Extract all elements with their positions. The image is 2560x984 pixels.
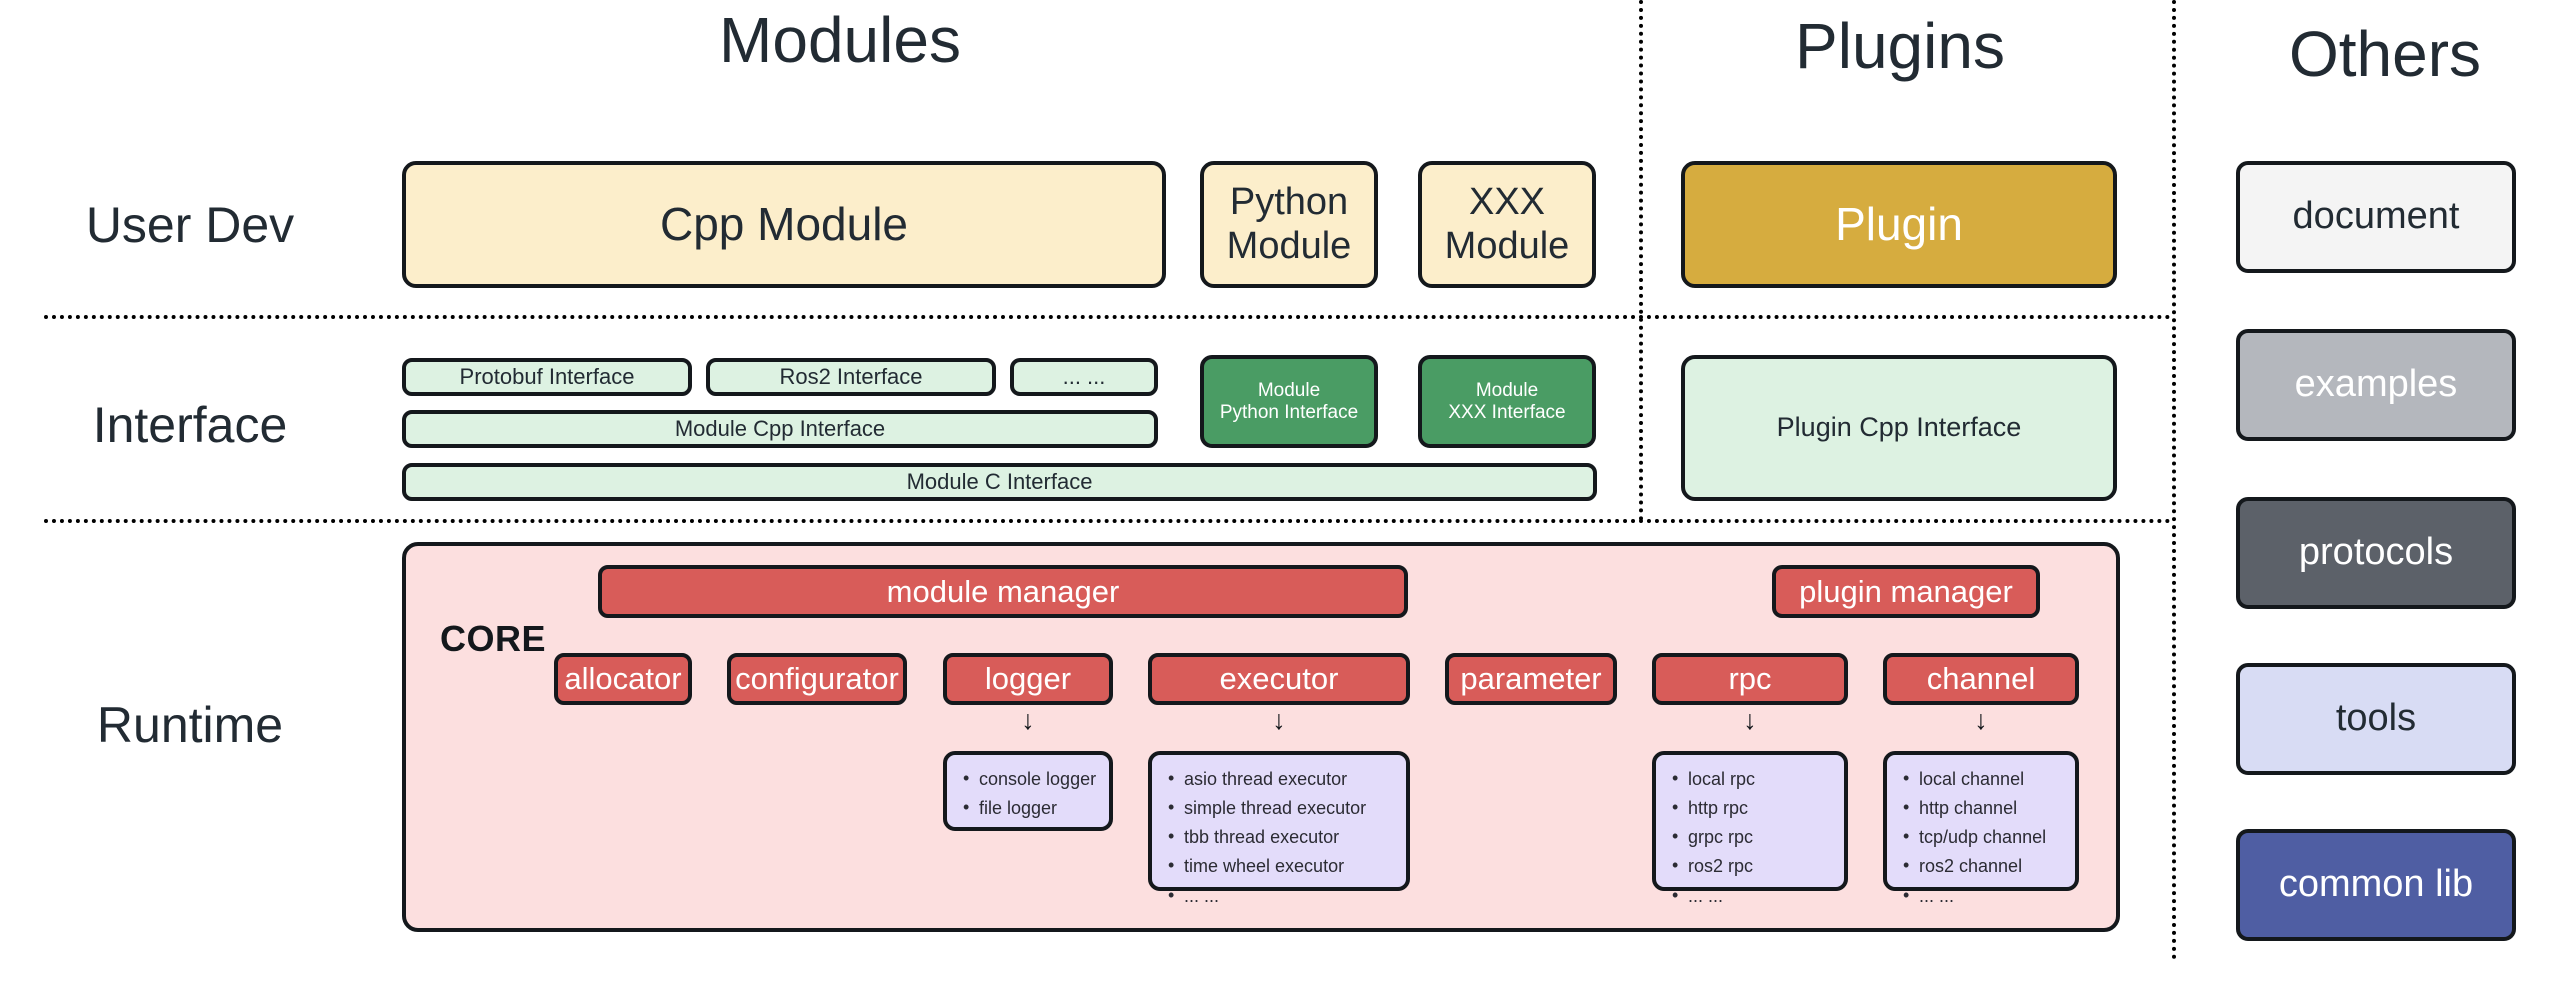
node-others-common-lib[interactable]: common lib — [2236, 829, 2516, 941]
list-item: local channel — [1919, 765, 2067, 794]
node-xxx-module-label-line1: XXX — [1469, 181, 1545, 225]
node-module-python-interface-line1: Module — [1258, 380, 1320, 402]
node-allocator[interactable]: allocator — [554, 653, 692, 705]
node-module-manager[interactable]: module manager — [598, 565, 1408, 618]
node-python-module-label-line2: Module — [1227, 225, 1352, 269]
list-item: tcp/udp channel — [1919, 823, 2067, 852]
node-module-c-interface[interactable]: Module C Interface — [402, 463, 1597, 501]
node-cpp-module[interactable]: Cpp Module — [402, 161, 1166, 288]
list-item: console logger — [979, 765, 1101, 794]
rpc-list: local rpc http rpc grpc rpc ros2 rpc ...… — [1666, 765, 1836, 911]
node-python-module-label-line1: Python — [1230, 181, 1348, 225]
list-item: grpc rpc — [1688, 823, 1836, 852]
node-others-protocols[interactable]: protocols — [2236, 497, 2516, 609]
column-header-modules: Modules — [600, 8, 1080, 72]
row-label-runtime: Runtime — [20, 700, 360, 750]
list-rpc-implementations: local rpc http rpc grpc rpc ros2 rpc ...… — [1652, 751, 1848, 891]
node-xxx-module-label-line2: Module — [1445, 225, 1570, 269]
divider-modules-plugins — [1639, 0, 1643, 521]
node-configurator[interactable]: configurator — [727, 653, 907, 705]
node-parameter[interactable]: parameter — [1445, 653, 1617, 705]
node-module-cpp-interface[interactable]: Module Cpp Interface — [402, 410, 1158, 448]
node-protobuf-interface[interactable]: Protobuf Interface — [402, 358, 692, 396]
executor-list: asio thread executor simple thread execu… — [1162, 765, 1398, 911]
list-item: ros2 rpc — [1688, 852, 1836, 881]
core-label: CORE — [440, 618, 546, 660]
list-item: local rpc — [1688, 765, 1836, 794]
list-item: ros2 channel — [1919, 852, 2067, 881]
list-item: asio thread executor — [1184, 765, 1398, 794]
arrow-executor-to-list: ↓ — [1148, 705, 1410, 736]
list-item: ... ... — [1688, 882, 1836, 911]
arrow-channel-to-list: ↓ — [1883, 705, 2079, 736]
node-plugin[interactable]: Plugin — [1681, 161, 2117, 288]
node-channel[interactable]: channel — [1883, 653, 2079, 705]
architecture-diagram: Modules Plugins Others User Dev Interfac… — [0, 0, 2560, 984]
node-others-examples[interactable]: examples — [2236, 329, 2516, 441]
column-header-others: Others — [2215, 22, 2555, 86]
list-item: time wheel executor — [1184, 852, 1398, 881]
node-plugin-cpp-interface[interactable]: Plugin Cpp Interface — [1681, 355, 2117, 501]
divider-plugins-others — [2172, 0, 2176, 960]
node-python-module[interactable]: Python Module — [1200, 161, 1378, 288]
channel-list: local channel http channel tcp/udp chann… — [1897, 765, 2067, 911]
list-item: file logger — [979, 794, 1101, 823]
node-module-python-interface-line2: Python Interface — [1220, 402, 1358, 424]
list-item: simple thread executor — [1184, 794, 1398, 823]
node-interface-ellipsis[interactable]: ... ... — [1010, 358, 1158, 396]
node-others-tools[interactable]: tools — [2236, 663, 2516, 775]
node-module-xxx-interface[interactable]: Module XXX Interface — [1418, 355, 1596, 448]
list-executor-implementations: asio thread executor simple thread execu… — [1148, 751, 1410, 891]
row-label-interface: Interface — [20, 400, 360, 450]
arrow-rpc-to-list: ↓ — [1652, 705, 1848, 736]
list-item: ... ... — [1919, 882, 2067, 911]
node-ros2-interface[interactable]: Ros2 Interface — [706, 358, 996, 396]
list-logger-implementations: console logger file logger — [943, 751, 1113, 831]
node-logger[interactable]: logger — [943, 653, 1113, 705]
node-xxx-module[interactable]: XXX Module — [1418, 161, 1596, 288]
node-module-xxx-interface-line2: XXX Interface — [1448, 402, 1565, 424]
node-module-python-interface[interactable]: Module Python Interface — [1200, 355, 1378, 448]
node-rpc[interactable]: rpc — [1652, 653, 1848, 705]
list-item: tbb thread executor — [1184, 823, 1398, 852]
node-plugin-manager[interactable]: plugin manager — [1772, 565, 2040, 618]
arrow-logger-to-list: ↓ — [943, 705, 1113, 736]
list-channel-implementations: local channel http channel tcp/udp chann… — [1883, 751, 2079, 891]
node-others-document[interactable]: document — [2236, 161, 2516, 273]
list-item: http channel — [1919, 794, 2067, 823]
column-header-plugins: Plugins — [1690, 14, 2110, 78]
divider-interface-runtime — [44, 519, 2172, 523]
node-module-xxx-interface-line1: Module — [1476, 380, 1538, 402]
row-label-user-dev: User Dev — [20, 200, 360, 250]
node-executor[interactable]: executor — [1148, 653, 1410, 705]
logger-list: console logger file logger — [957, 765, 1101, 823]
list-item: ... ... — [1184, 882, 1398, 911]
list-item: http rpc — [1688, 794, 1836, 823]
divider-user-dev-interface — [44, 315, 2172, 319]
